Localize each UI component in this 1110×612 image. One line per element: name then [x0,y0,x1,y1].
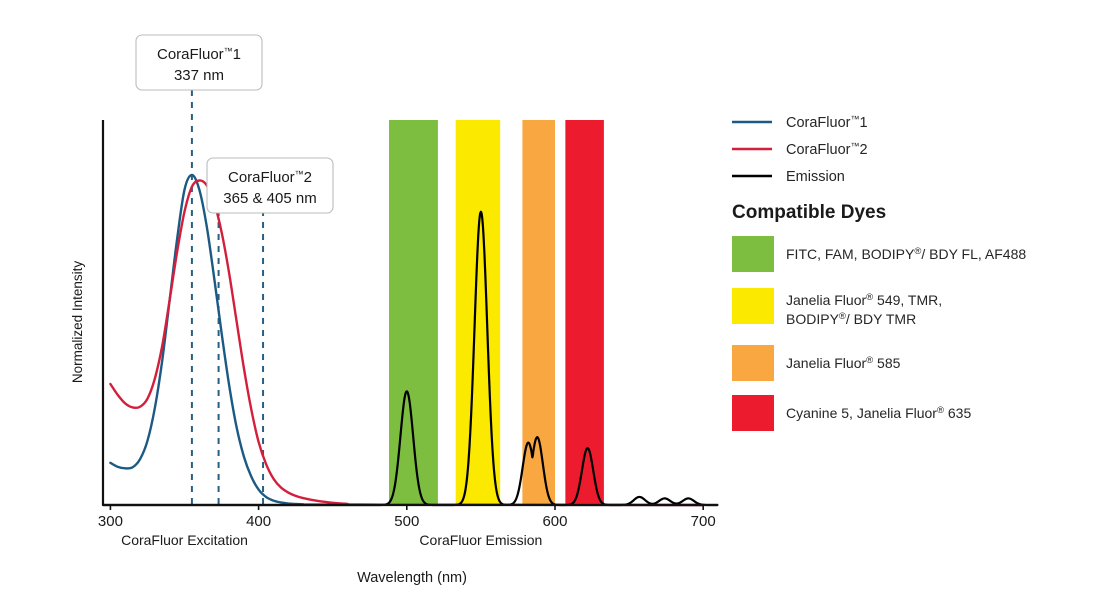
dye-swatch-2 [732,345,774,381]
corafluor1-callout-line2: 337 nm [174,67,224,84]
dye-item-1: Janelia Fluor® 549, TMR,BODIPY®/ BDY TMR [732,288,942,327]
dye-label-0-line-0: FITC, FAM, BODIPY®/ BDY FL, AF488 [786,246,1026,263]
region-label-1: CoraFluor Emission [419,532,542,548]
dye-swatch-1 [732,288,774,324]
x-tick-label-600: 600 [542,513,567,530]
legend-label-2: Emission [786,169,845,185]
region-label-0: CoraFluor Excitation [121,532,248,548]
y-axis-title: Normalized Intensity [70,261,85,384]
corafluor2-callout: CoraFluor™2365 & 405 nm [207,158,333,213]
x-tick-label-300: 300 [98,513,123,530]
dye-label-2-line-0: Janelia Fluor® 585 [786,355,901,372]
x-tick-label-700: 700 [691,513,716,530]
dye-label-1-line-0: Janelia Fluor® 549, TMR, [786,292,942,309]
band-layer [389,120,604,505]
chart-root: 300400500600700 CoraFluor ExcitationCora… [0,0,1110,612]
dye-swatch-0 [732,236,774,272]
corafluor1-callout: CoraFluor™1337 nm [136,35,262,90]
orange-band [522,120,555,505]
spectra-figure: 300400500600700 CoraFluor ExcitationCora… [0,0,1110,612]
yellow-band [456,120,500,505]
x-tick-label-500: 500 [394,513,419,530]
dye-swatch-3 [732,395,774,431]
compatible-dyes-heading: Compatible Dyes [732,202,886,223]
x-axis-title: Wavelength (nm) [357,570,467,586]
x-tick-label-400: 400 [246,513,271,530]
corafluor2-callout-line2: 365 & 405 nm [223,190,316,207]
red-band [565,120,604,505]
dye-label-3-line-0: Cyanine 5, Janelia Fluor® 635 [786,405,971,422]
dye-label-1-line-1: BODIPY®/ BDY TMR [786,311,916,328]
